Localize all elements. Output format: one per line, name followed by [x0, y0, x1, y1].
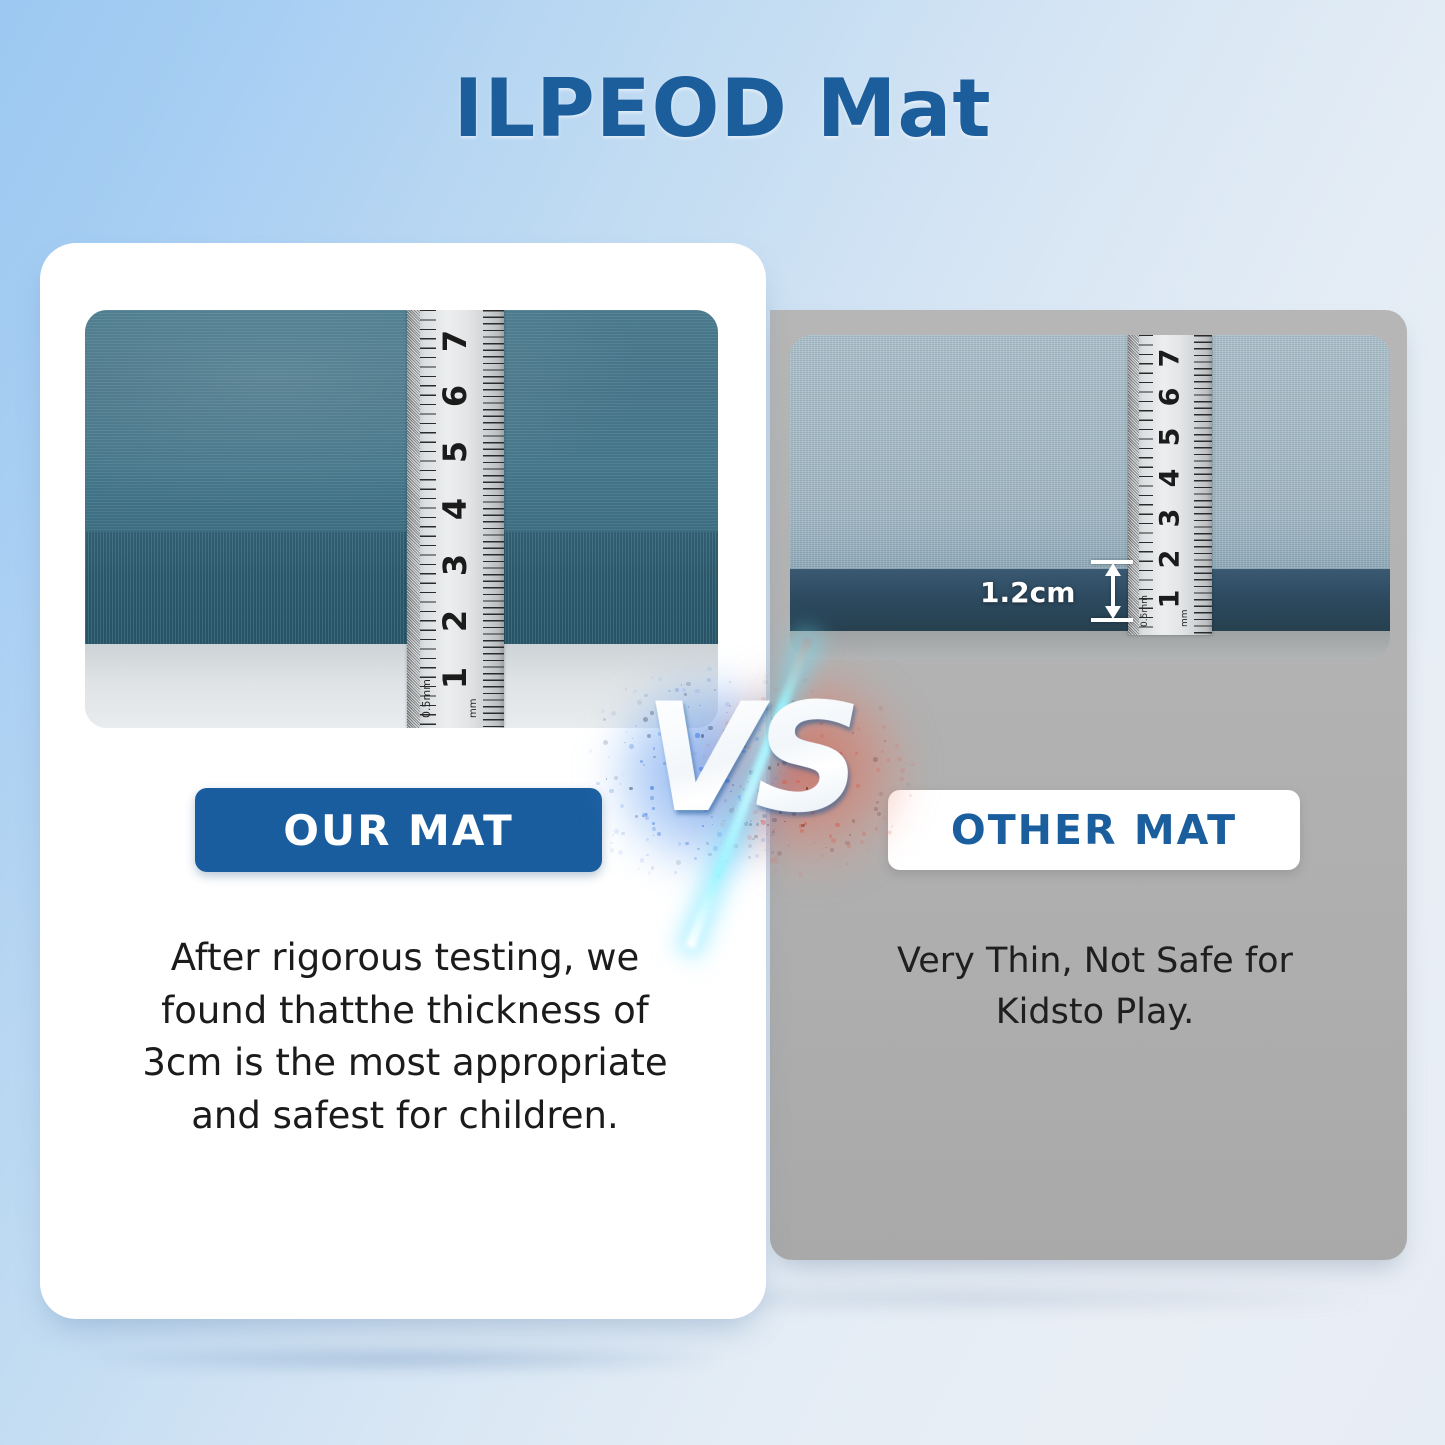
ruler-number: 6 [436, 385, 474, 407]
ruler-numbers: 1 2 3 4 5 6 7 [434, 310, 477, 728]
vs-speck [766, 783, 768, 785]
ruler-numbers: 1 2 3 4 5 6 7 [1152, 335, 1189, 635]
ruler-scale-label-right: mm [1180, 609, 1190, 627]
ruler-number: 5 [436, 441, 474, 463]
ruler-number: 7 [436, 330, 474, 352]
our-mat-photo: 1 2 3 4 5 6 7 0.5mm mm 3cm [85, 310, 718, 728]
ruler-number: 1 [436, 667, 474, 689]
ruler-number: 2 [1154, 549, 1185, 568]
ruler-knurled-edge [1128, 335, 1139, 635]
our-mat-surface [85, 310, 718, 532]
measure-arrow [1105, 560, 1125, 622]
other-ruler: 1 2 3 4 5 6 7 0.5mm mm [1128, 335, 1212, 635]
other-mat-edge [790, 569, 1390, 631]
other-mat-photo: 1 2 3 4 5 6 7 0.5mm mm [790, 335, 1390, 660]
ruler-number: 1 [1154, 590, 1185, 609]
ruler-scale-label-left: 0.5mm [1140, 595, 1150, 627]
measure-arrowhead-down [1105, 606, 1121, 619]
other-mat-surface [790, 335, 1390, 569]
vs-speck [766, 708, 769, 711]
ruler-number: 5 [1154, 428, 1185, 447]
our-card-shadow [95, 1348, 715, 1370]
page-title: ILPEOD Mat [0, 62, 1445, 155]
ruler-scale-label-right: mm [468, 699, 479, 718]
ruler-number: 4 [1154, 468, 1185, 487]
other-photo-floor [790, 631, 1390, 660]
ruler-number: 2 [436, 610, 474, 632]
infographic-canvas: ILPEOD Mat 1 2 3 4 5 6 7 0.5mm mm [0, 0, 1445, 1445]
our-photo-floor [85, 644, 718, 728]
vs-speck [767, 824, 770, 827]
our-ruler: 1 2 3 4 5 6 7 0.5mm mm [407, 310, 504, 728]
our-mat-badge[interactable]: OUR MAT [195, 788, 602, 872]
ruler-number: 6 [1154, 387, 1185, 406]
ruler-number: 7 [1154, 348, 1185, 367]
ruler-number: 3 [436, 554, 474, 576]
measure-arrowhead-up [1105, 563, 1121, 576]
ruler-number: 3 [1154, 509, 1185, 528]
ruler-number: 4 [436, 497, 474, 519]
our-mat-description: After rigorous testing, we found thatthe… [120, 932, 690, 1142]
ruler-knurled-edge [407, 310, 420, 728]
other-mat-badge[interactable]: OTHER MAT [888, 790, 1300, 870]
ruler-mm-ticks [483, 310, 504, 728]
ruler-mm-ticks [1194, 335, 1212, 635]
other-mat-description: Very Thin, Not Safe for Kidsto Play. [865, 936, 1325, 1038]
ruler-scale-label-left: 0.5mm [420, 679, 433, 718]
vs-speck [766, 833, 768, 835]
our-mat-edge [85, 532, 718, 645]
other-thickness-label: 1.2cm [980, 576, 1075, 609]
